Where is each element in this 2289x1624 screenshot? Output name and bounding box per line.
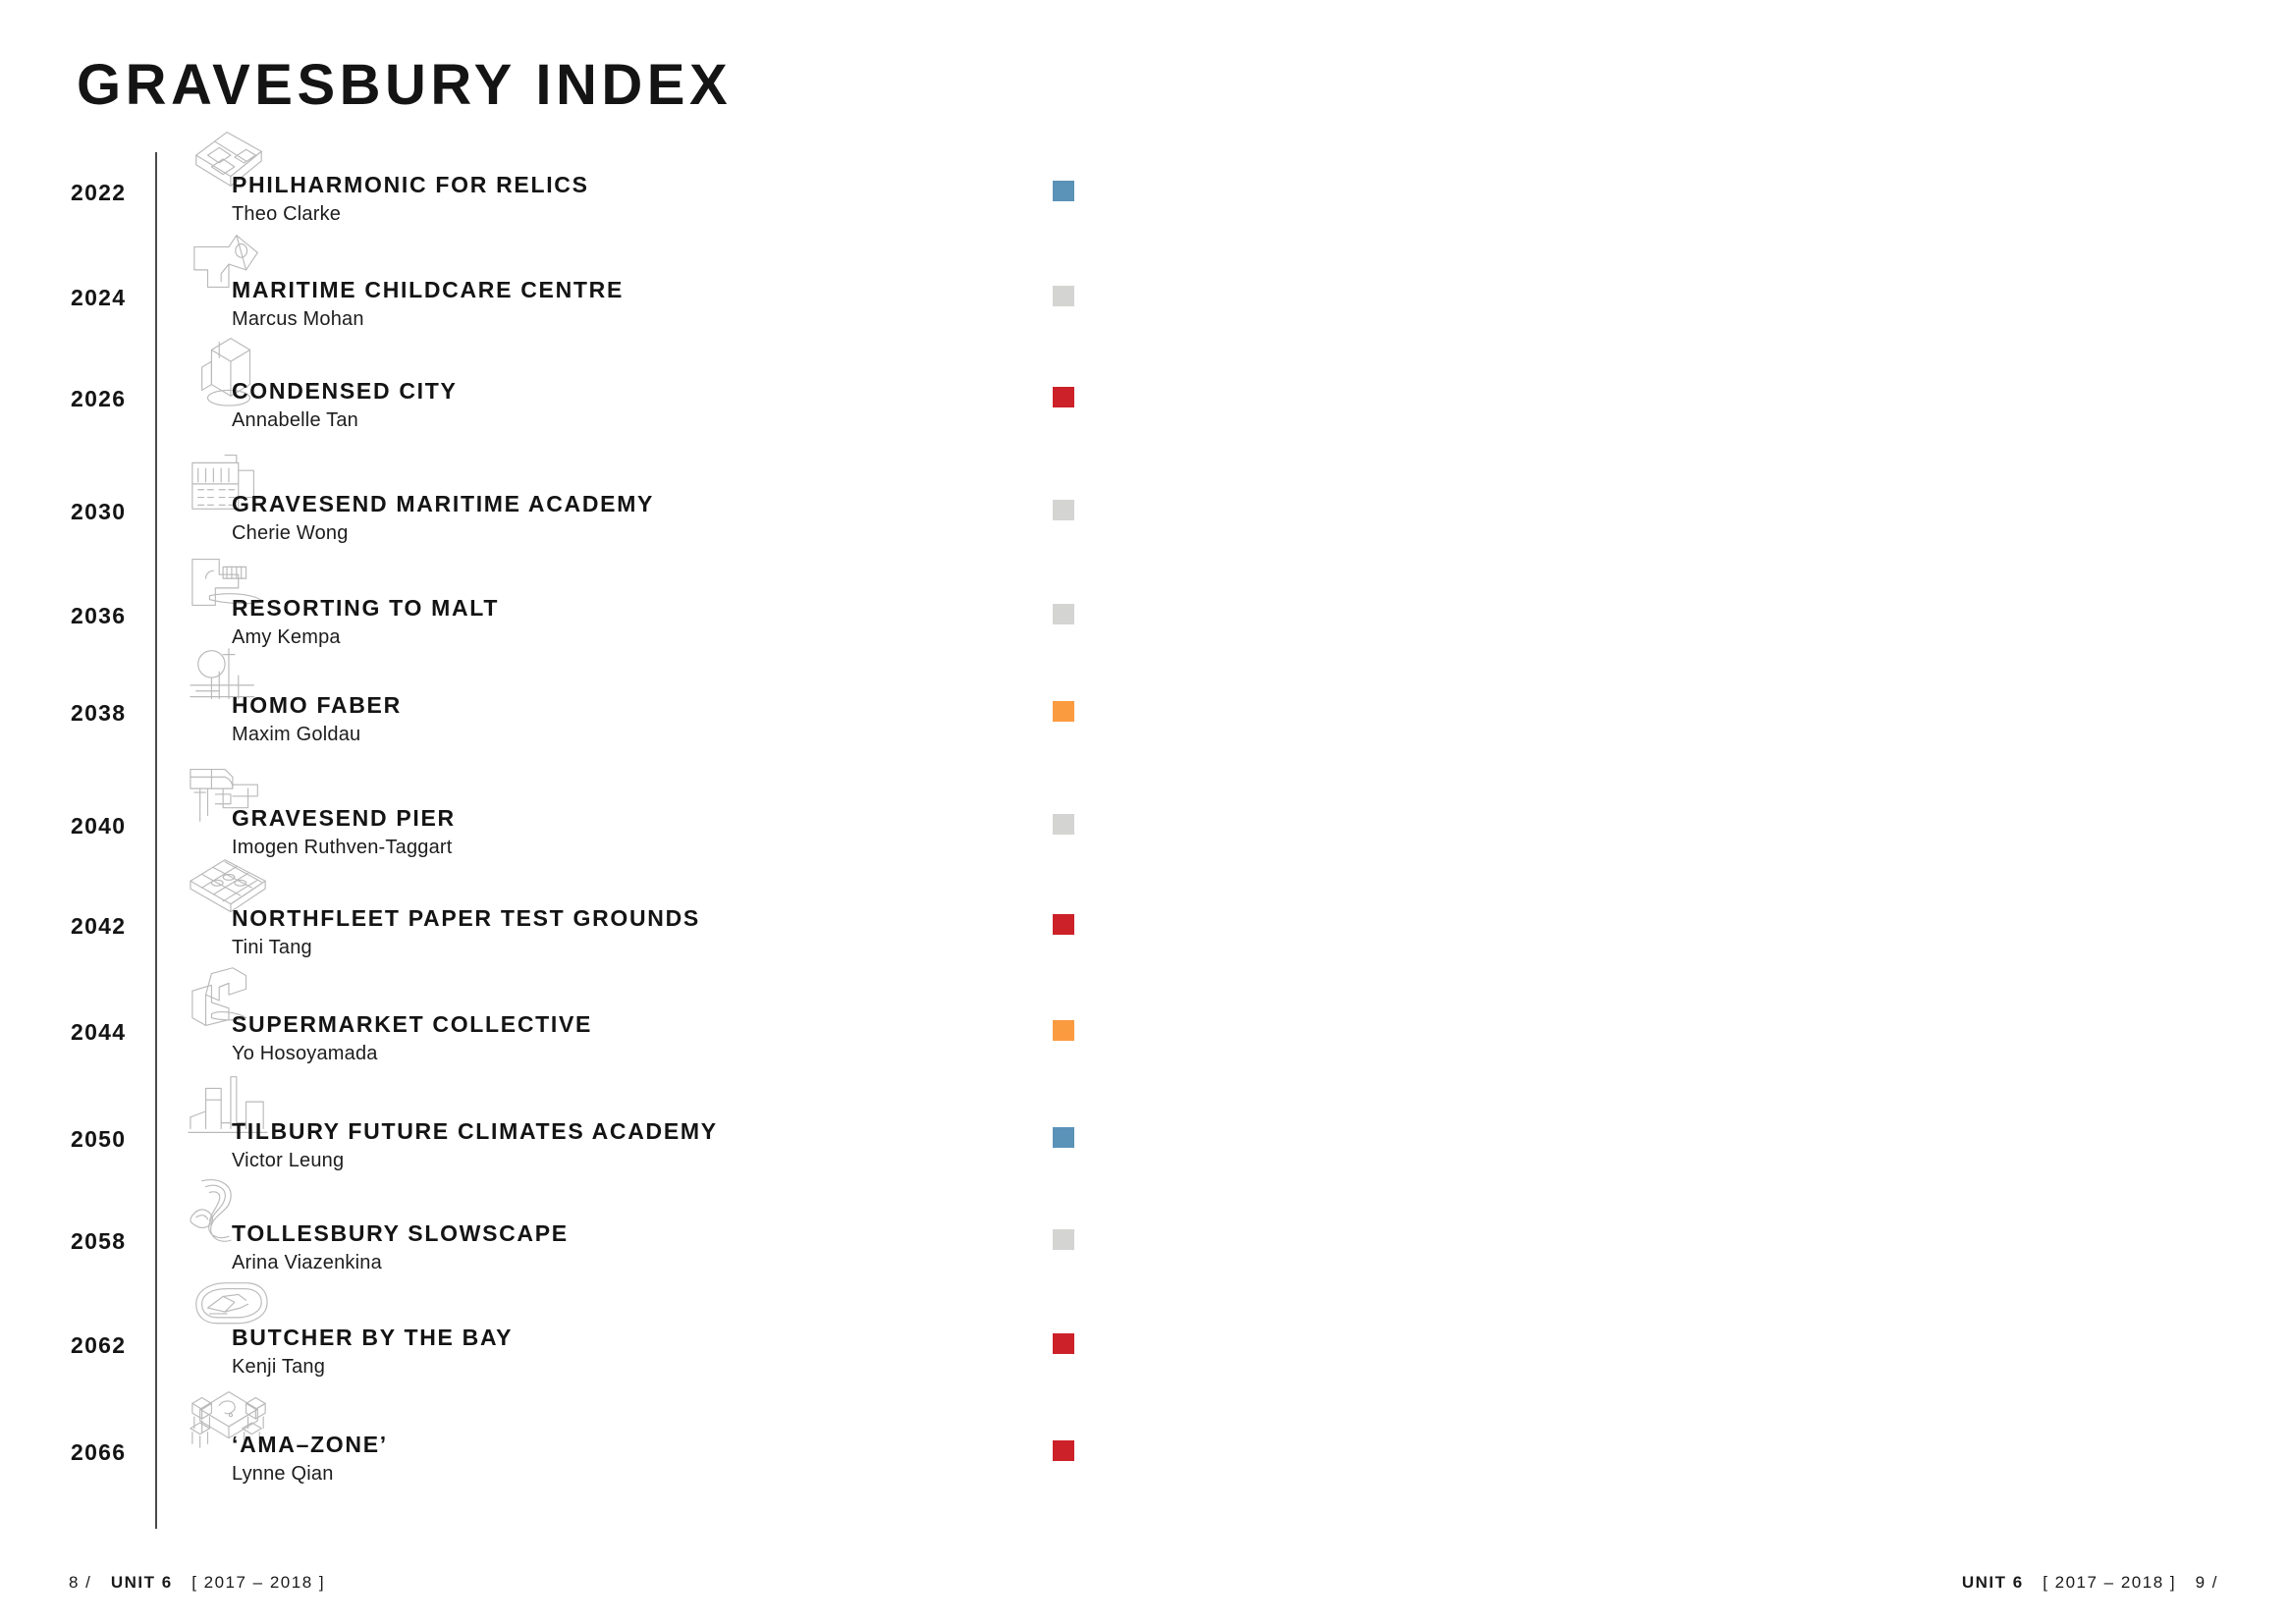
index-row-title[interactable]: SUPERMARKET COLLECTIVE — [232, 1013, 592, 1036]
index-page: GRAVESBURY INDEX 2022PHILHARMONIC FOR RE… — [0, 0, 2289, 1624]
page-footer: 8 / UNIT 6 [ 2017 – 2018 ] UNIT 6 [ 2017… — [0, 1573, 2289, 1602]
index-row-title[interactable]: CONDENSED CITY — [232, 380, 458, 403]
index-row-title[interactable]: NORTHFLEET PAPER TEST GROUNDS — [232, 907, 700, 930]
footer-right-years: [ 2017 – 2018 ] — [2043, 1573, 2176, 1593]
footer-left-unit: UNIT 6 — [111, 1573, 173, 1593]
footer-left-years: [ 2017 – 2018 ] — [191, 1573, 325, 1593]
index-row-year: 2036 — [71, 605, 147, 627]
index-row-author: Amy Kempa — [232, 627, 499, 647]
index-row-year: 2066 — [71, 1441, 147, 1464]
index-row-category-swatch — [1053, 1020, 1074, 1041]
index-row-category-swatch — [1053, 701, 1074, 722]
index-row-author: Tini Tang — [232, 938, 700, 957]
index-row-title[interactable]: RESORTING TO MALT — [232, 597, 499, 620]
index-row-text: BUTCHER BY THE BAYKenji Tang — [232, 1326, 513, 1377]
index-row-author: Theo Clarke — [232, 204, 589, 224]
index-row-title[interactable]: ‘AMA–ZONE’ — [232, 1434, 388, 1456]
index-row-author: Yo Hosoyamada — [232, 1044, 592, 1063]
index-row-author: Imogen Ruthven-Taggart — [232, 838, 456, 857]
index-row-author: Marcus Mohan — [232, 309, 624, 329]
footer-right-unit: UNIT 6 — [1962, 1573, 2024, 1593]
index-row-category-swatch — [1053, 914, 1074, 935]
index-row-author: Arina Viazenkina — [232, 1253, 569, 1272]
index-list: 2022PHILHARMONIC FOR RELICSTheo Clarke20… — [0, 0, 2289, 1512]
index-row-year: 2030 — [71, 501, 147, 523]
index-row-year: 2026 — [71, 388, 147, 410]
index-row-year: 2040 — [71, 815, 147, 838]
index-row-year: 2024 — [71, 287, 147, 309]
index-row-title[interactable]: MARITIME CHILDCARE CENTRE — [232, 279, 624, 301]
index-row-text: TILBURY FUTURE CLIMATES ACADEMYVictor Le… — [232, 1120, 718, 1170]
index-row-category-swatch — [1053, 500, 1074, 520]
index-row-year: 2022 — [71, 182, 147, 204]
index-row-text: PHILHARMONIC FOR RELICSTheo Clarke — [232, 174, 589, 224]
index-row-text: GRAVESEND PIERImogen Ruthven-Taggart — [232, 807, 456, 857]
index-row-category-swatch — [1053, 286, 1074, 306]
index-row-category-swatch — [1053, 181, 1074, 201]
index-row-text: MARITIME CHILDCARE CENTREMarcus Mohan — [232, 279, 624, 329]
footer-right: UNIT 6 [ 2017 – 2018 ] 9 / — [1962, 1573, 2218, 1593]
index-row-title[interactable]: PHILHARMONIC FOR RELICS — [232, 174, 589, 196]
index-row-text: GRAVESEND MARITIME ACADEMYCherie Wong — [232, 493, 654, 543]
index-row-text: CONDENSED CITYAnnabelle Tan — [232, 380, 458, 430]
index-row-title[interactable]: HOMO FABER — [232, 694, 402, 717]
index-row-text: HOMO FABERMaxim Goldau — [232, 694, 402, 744]
index-row-author: Maxim Goldau — [232, 725, 402, 744]
index-row-author: Victor Leung — [232, 1151, 718, 1170]
index-row-title[interactable]: GRAVESEND PIER — [232, 807, 456, 830]
index-row-year: 2058 — [71, 1230, 147, 1253]
index-row-year: 2062 — [71, 1334, 147, 1357]
index-row-category-swatch — [1053, 387, 1074, 407]
index-row-category-swatch — [1053, 1440, 1074, 1461]
index-row-text: RESORTING TO MALTAmy Kempa — [232, 597, 499, 647]
index-row-title[interactable]: TOLLESBURY SLOWSCAPE — [232, 1222, 569, 1245]
index-row-text: SUPERMARKET COLLECTIVEYo Hosoyamada — [232, 1013, 592, 1063]
index-row-title[interactable]: BUTCHER BY THE BAY — [232, 1326, 513, 1349]
index-row-category-swatch — [1053, 604, 1074, 624]
index-row-category-swatch — [1053, 1127, 1074, 1148]
index-row-text: NORTHFLEET PAPER TEST GROUNDSTini Tang — [232, 907, 700, 957]
footer-left: 8 / UNIT 6 [ 2017 – 2018 ] — [69, 1573, 325, 1593]
index-row-category-swatch — [1053, 814, 1074, 835]
index-row-author: Lynne Qian — [232, 1464, 388, 1484]
footer-right-page: 9 / — [2196, 1573, 2218, 1593]
index-row-year: 2038 — [71, 702, 147, 725]
index-row-title[interactable]: TILBURY FUTURE CLIMATES ACADEMY — [232, 1120, 718, 1143]
index-row-title[interactable]: GRAVESEND MARITIME ACADEMY — [232, 493, 654, 515]
footer-left-page: 8 / — [69, 1573, 91, 1593]
index-row-author: Kenji Tang — [232, 1357, 513, 1377]
index-row-category-swatch — [1053, 1229, 1074, 1250]
index-row-year: 2042 — [71, 915, 147, 938]
index-row-year: 2050 — [71, 1128, 147, 1151]
index-row-author: Cherie Wong — [232, 523, 654, 543]
index-row-category-swatch — [1053, 1333, 1074, 1354]
index-row-author: Annabelle Tan — [232, 410, 458, 430]
index-row-text: ‘AMA–ZONE’Lynne Qian — [232, 1434, 388, 1484]
index-row-text: TOLLESBURY SLOWSCAPEArina Viazenkina — [232, 1222, 569, 1272]
index-row-year: 2044 — [71, 1021, 147, 1044]
